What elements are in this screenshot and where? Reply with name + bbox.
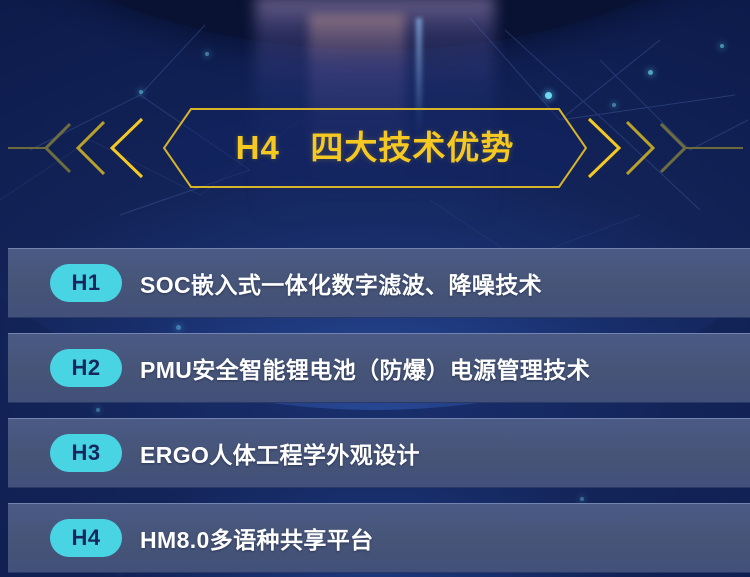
particle-dot xyxy=(139,90,143,94)
particle-dot xyxy=(612,103,616,107)
promo-slide: H4 四大技术优势 H1 SOC嵌入式一体化数字滤波、降噪技术 H2 PMU安全… xyxy=(0,0,750,577)
triple-chevron-left-icon xyxy=(8,108,158,188)
triple-chevron-right-icon xyxy=(583,108,743,188)
particle-dot xyxy=(580,497,584,501)
item-badge: H3 xyxy=(50,434,122,472)
item-badge: H4 xyxy=(50,519,122,557)
item-badge: H2 xyxy=(50,349,122,387)
particle-dot xyxy=(205,52,209,56)
list-item[interactable]: H2 PMU安全智能锂电池（防爆）电源管理技术 xyxy=(8,333,750,403)
item-label: SOC嵌入式一体化数字滤波、降噪技术 xyxy=(140,266,542,300)
item-label: ERGO人体工程学外观设计 xyxy=(140,436,420,470)
particle-dot xyxy=(648,70,653,75)
item-badge: H1 xyxy=(50,264,122,302)
particle-dot xyxy=(545,92,552,99)
list-item[interactable]: H3 ERGO人体工程学外观设计 xyxy=(8,418,750,488)
item-label: PMU安全智能锂电池（防爆）电源管理技术 xyxy=(140,351,590,385)
list-item[interactable]: H1 SOC嵌入式一体化数字滤波、降噪技术 xyxy=(8,248,750,318)
particle-dot xyxy=(720,44,724,48)
page-title: H4 四大技术优势 xyxy=(163,108,587,188)
item-label: HM8.0多语种共享平台 xyxy=(140,521,374,555)
particle-dot xyxy=(176,325,181,330)
list-item[interactable]: H4 HM8.0多语种共享平台 xyxy=(8,503,750,573)
particle-dot xyxy=(96,408,100,412)
section-banner: H4 四大技术优势 xyxy=(0,108,750,188)
